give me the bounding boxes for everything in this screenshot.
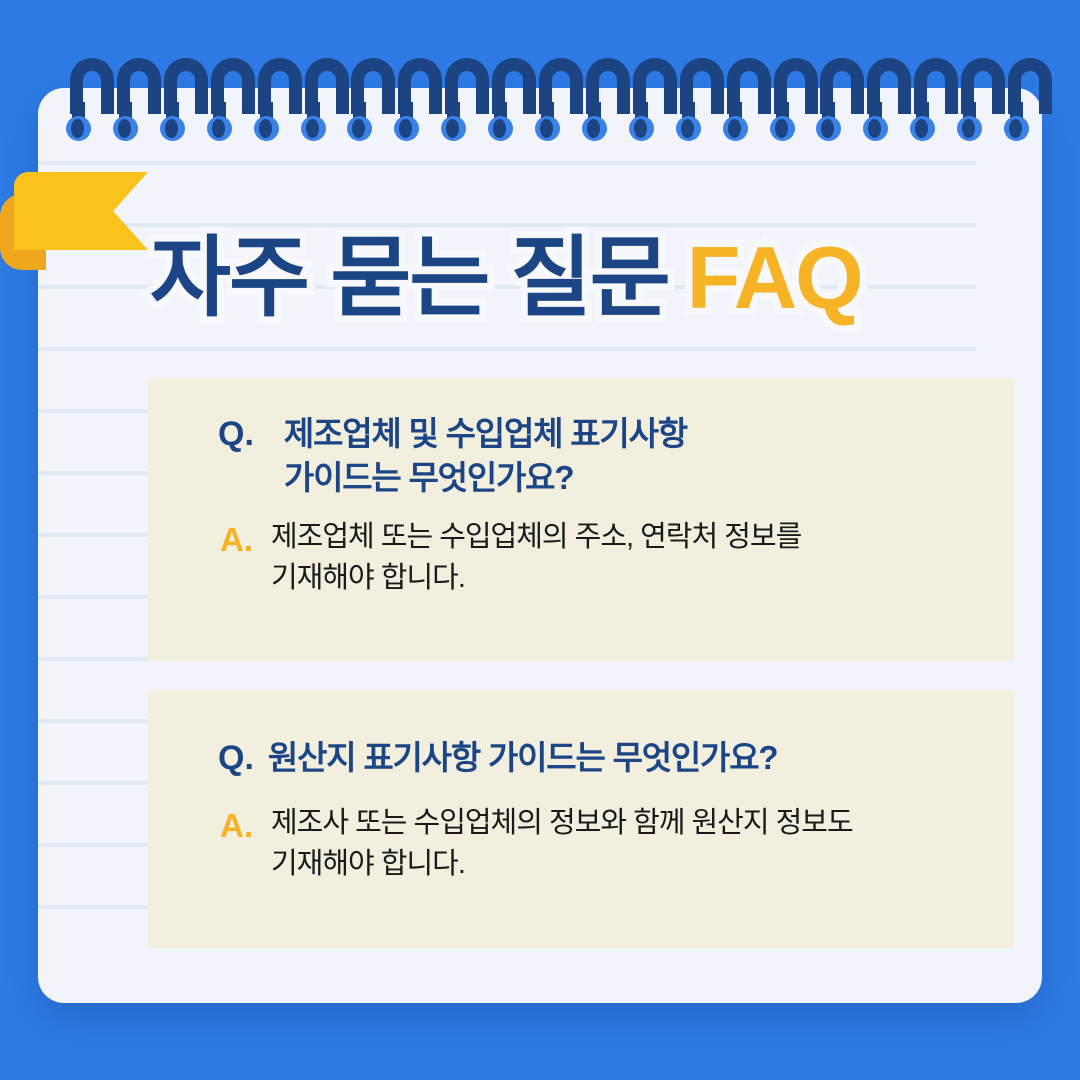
spiral-ring: [398, 58, 442, 140]
card-torn-edge-right: [1011, 690, 1027, 948]
spiral-ring-bead: [535, 116, 560, 141]
spiral-ring: [820, 58, 864, 140]
spiral-ring-bead: [1004, 116, 1029, 141]
spiral-ring-bead: [723, 116, 748, 141]
answer-label: A.: [220, 517, 253, 563]
card-torn-edge-left: [135, 690, 151, 948]
spiral-ring-bead: [770, 116, 795, 141]
title-korean: 자주 묻는 질문: [150, 234, 669, 322]
faq-card-graphic: Q. 제조업체 및 수입업체 표기사항 가이드는 무엇인가요? A. 제조업체 …: [0, 0, 1080, 1080]
spiral-ring: [258, 58, 302, 140]
spiral-ring-bead: [254, 116, 279, 141]
spiral-ring: [727, 58, 771, 140]
spiral-ring: [586, 58, 630, 140]
question-label: Q.: [218, 412, 254, 457]
spiral-ring: [633, 58, 677, 140]
spiral-ring-bead: [394, 116, 419, 141]
spiral-ring-bead: [816, 116, 841, 141]
question-label: Q.: [218, 736, 254, 781]
spiral-ring: [70, 58, 114, 140]
spiral-ring: [867, 58, 911, 140]
bookmark-flag: [14, 172, 148, 250]
spiral-ring-bead: [910, 116, 935, 141]
answer-text: 제조업체 또는 수입업체의 주소, 연락처 정보를 기재해야 합니다.: [271, 517, 801, 599]
spiral-ring-bead: [629, 116, 654, 141]
faq-item-1[interactable]: Q. 제조업체 및 수입업체 표기사항 가이드는 무엇인가요? A. 제조업체 …: [148, 378, 1014, 661]
spiral-ring: [164, 58, 208, 140]
page-title: 자주 묻는 질문 FAQ: [150, 224, 950, 332]
spiral-ring: [305, 58, 349, 140]
spiral-ring: [774, 58, 818, 140]
spiral-ring-bead: [582, 116, 607, 141]
title-faq: FAQ: [687, 234, 862, 322]
spiral-ring: [445, 58, 489, 140]
spiral-ring: [914, 58, 958, 140]
bookmark-ribbon: [0, 172, 148, 270]
ruled-line: [38, 161, 976, 165]
spiral-ring-bead: [66, 116, 91, 141]
spiral-ring-bead: [347, 116, 372, 141]
spiral-ring: [492, 58, 536, 140]
spiral-ring-bead: [113, 116, 138, 141]
spiral-ring: [539, 58, 583, 140]
spiral-ring-bead: [488, 116, 513, 141]
answer-text: 제조사 또는 수입업체의 정보와 함께 원산지 정보도 기재해야 합니다.: [271, 803, 853, 885]
spiral-ring-bead: [863, 116, 888, 141]
card-torn-edge-left: [135, 378, 151, 661]
spiral-ring-bead: [301, 116, 326, 141]
card-torn-edge-right: [1011, 378, 1027, 661]
question-text: 원산지 표기사항 가이드는 무엇인가요?: [268, 736, 777, 780]
spiral-ring-bead: [441, 116, 466, 141]
faq-item-2[interactable]: Q. 원산지 표기사항 가이드는 무엇인가요? A. 제조사 또는 수입업체의 …: [148, 690, 1014, 948]
answer-label: A.: [220, 803, 253, 849]
spiral-binding: [0, 0, 1080, 140]
spiral-ring: [961, 58, 1005, 140]
spiral-ring-bead: [160, 116, 185, 141]
spiral-ring: [351, 58, 395, 140]
spiral-ring: [1008, 58, 1052, 140]
ruled-line: [38, 347, 976, 351]
question-text: 제조업체 및 수입업체 표기사항 가이드는 무엇인가요?: [284, 412, 687, 499]
spiral-ring: [211, 58, 255, 140]
spiral-ring: [117, 58, 161, 140]
spiral-ring-bead: [676, 116, 701, 141]
spiral-ring-bead: [957, 116, 982, 141]
spiral-ring-bead: [207, 116, 232, 141]
spiral-ring: [680, 58, 724, 140]
